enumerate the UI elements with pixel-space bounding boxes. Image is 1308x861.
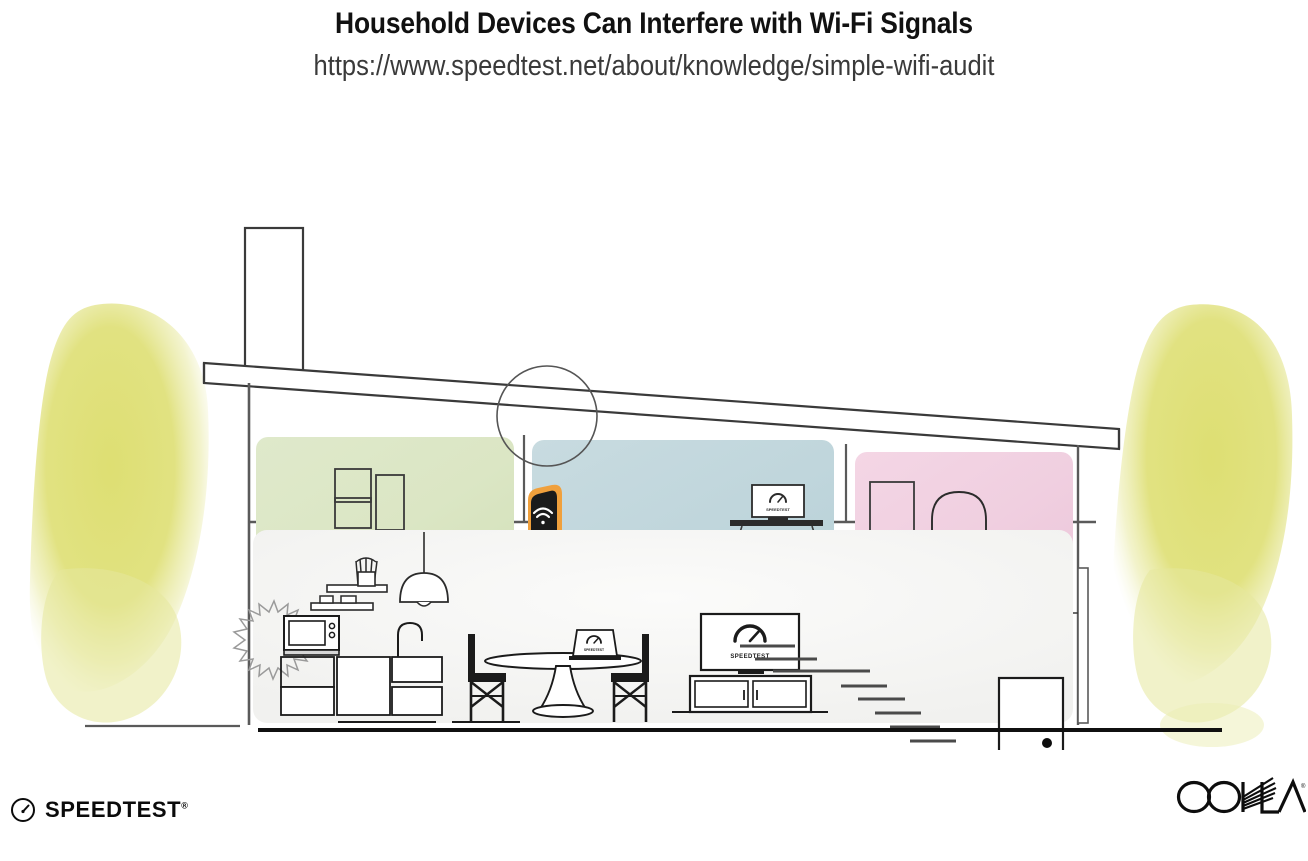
house-illustration: SPEEDTEST bbox=[0, 100, 1308, 750]
doorknob-icon bbox=[1042, 738, 1052, 748]
speedtest-wordmark: SPEEDTEST® bbox=[45, 797, 188, 823]
foliage-left bbox=[30, 303, 209, 722]
laptop-screen-label: SPEEDTEST bbox=[584, 648, 605, 652]
chimney bbox=[245, 228, 303, 373]
page-title: Household Devices Can Interfere with Wi-… bbox=[78, 4, 1229, 44]
source-url: https://www.speedtest.net/about/knowledg… bbox=[78, 46, 1229, 86]
speedtest-gauge-icon bbox=[10, 797, 36, 823]
monitor-screen-label: SPEEDTEST bbox=[766, 507, 790, 512]
microwave[interactable] bbox=[284, 616, 339, 655]
registered-mark: ® bbox=[181, 801, 188, 811]
television[interactable]: SPEEDTEST bbox=[701, 614, 799, 674]
ookla-logo: ® bbox=[1174, 776, 1306, 821]
ookla-wordmark: ® bbox=[1174, 776, 1306, 816]
speedtest-wordmark-text: SPEEDTEST bbox=[45, 797, 181, 822]
infographic-canvas: Household Devices Can Interfere with Wi-… bbox=[0, 0, 1308, 861]
room-ground-floor: SPEEDTEST bbox=[234, 530, 1073, 750]
foliage-right bbox=[1112, 304, 1292, 747]
header: Household Devices Can Interfere with Wi-… bbox=[0, 4, 1308, 86]
router[interactable] bbox=[528, 485, 562, 532]
ookla-registered-mark: ® bbox=[1301, 783, 1306, 790]
roof bbox=[204, 363, 1119, 449]
media-console bbox=[690, 676, 811, 712]
door[interactable] bbox=[999, 678, 1063, 750]
monitor[interactable]: SPEEDTEST bbox=[752, 485, 804, 520]
speedtest-logo: SPEEDTEST® bbox=[10, 797, 188, 823]
laptop[interactable]: SPEEDTEST bbox=[569, 630, 621, 660]
